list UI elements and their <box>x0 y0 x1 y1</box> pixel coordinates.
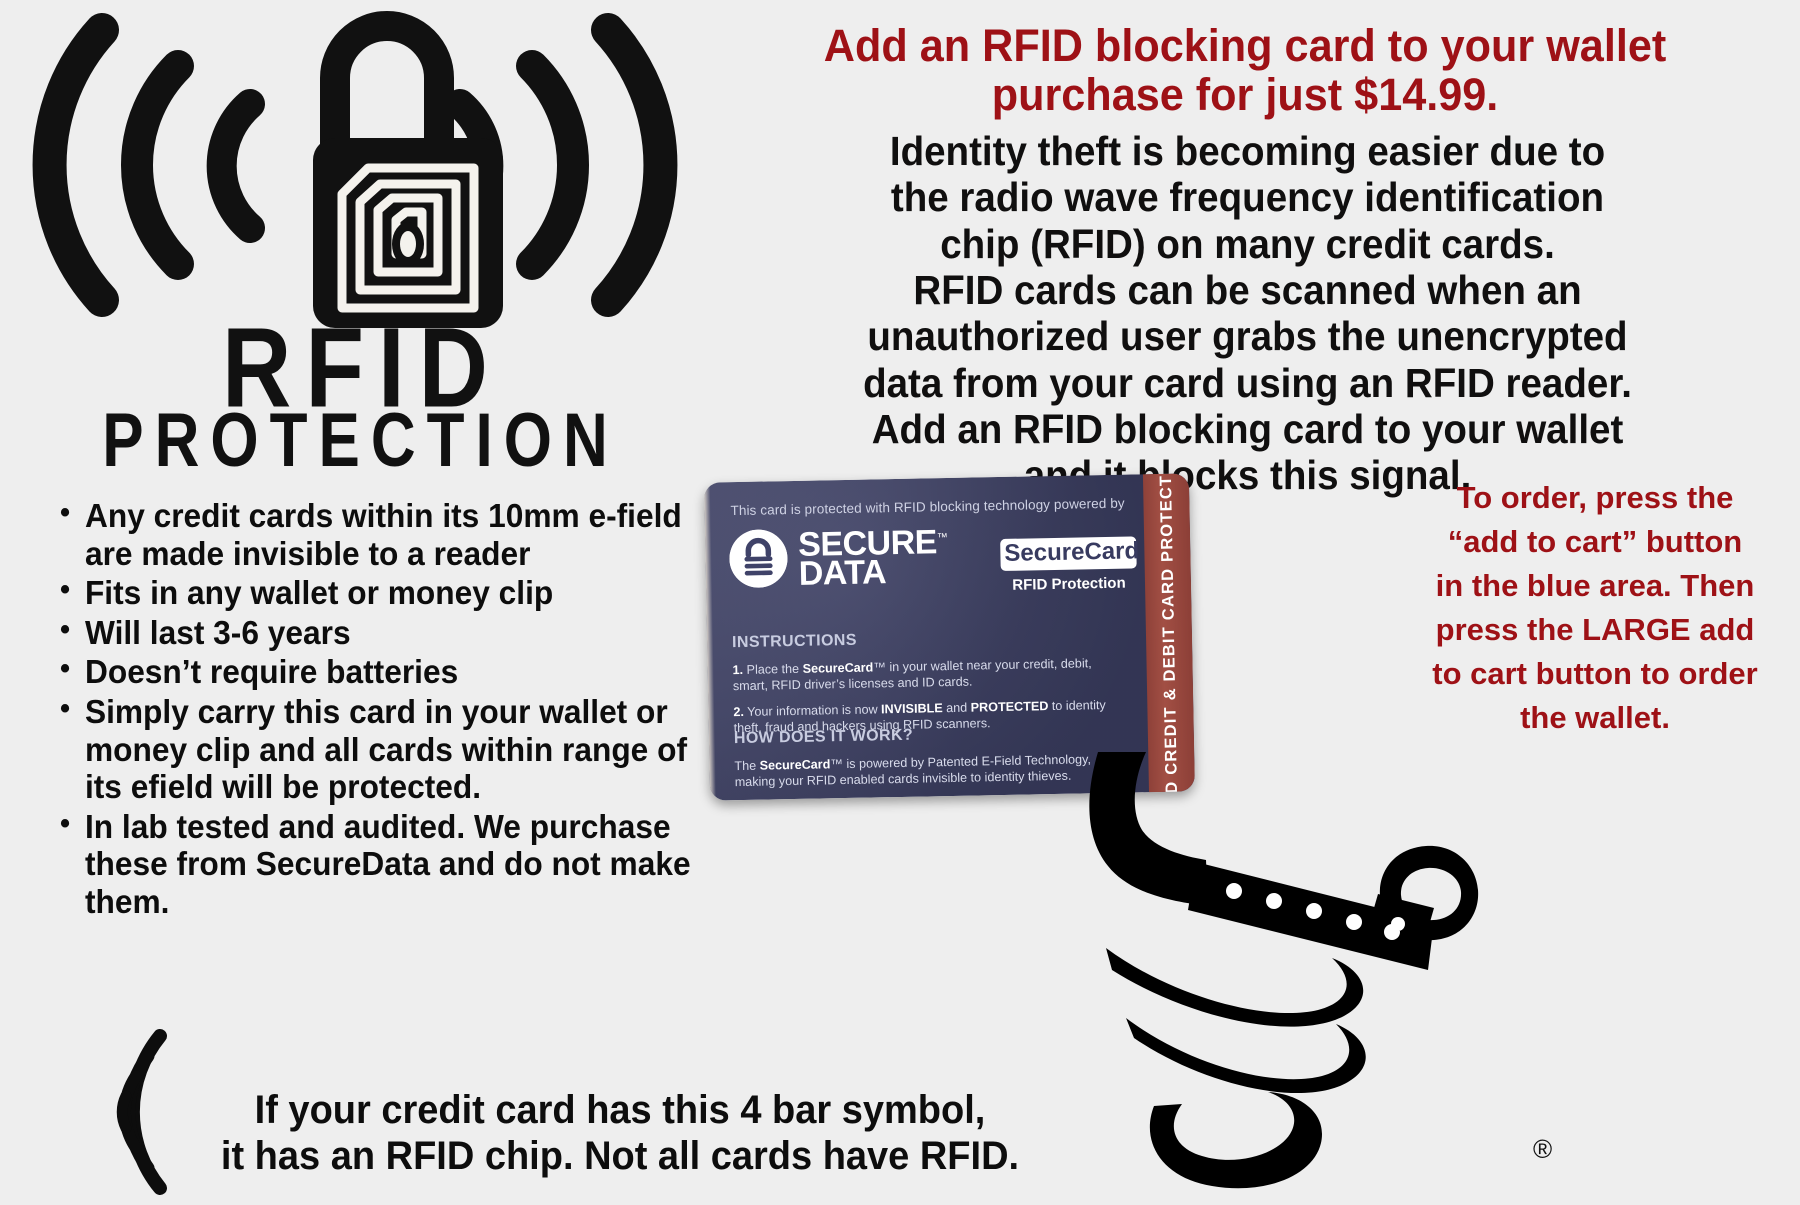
badge-subtitle: RFID Protection <box>1001 574 1137 594</box>
card-how-it-works-heading: HOW DOES IT WORK? <box>734 727 914 748</box>
step-number: 2. <box>733 705 744 719</box>
registered-trademark-icon: ® <box>1533 1136 1552 1162</box>
rfid-logo-wordmark-line2: PROTECTION <box>10 404 700 480</box>
step-text: Your information is now <box>744 702 881 719</box>
securedata-word-data: DATA <box>798 553 886 593</box>
order-note-line: to cart button to order <box>1395 652 1795 696</box>
step-brand: SecureCard <box>802 660 873 675</box>
securedata-wordmark: SECURE™ DATA <box>798 528 948 589</box>
bottom-caption-line: it has an RFID chip. Not all cards have … <box>164 1134 1076 1180</box>
intro-line: the radio wave frequency identification <box>733 174 1762 220</box>
promo-headline: Add an RFID blocking card to your wallet… <box>722 22 1768 119</box>
step-number: 1. <box>732 663 743 677</box>
securedata-logo: SECURE™ DATA <box>729 526 948 589</box>
list-item: Will last 3-6 years <box>60 614 722 652</box>
intro-line: RFID cards can be scanned when an <box>733 267 1762 313</box>
intro-line: Identity theft is becoming easier due to <box>733 128 1762 174</box>
card-instruction-step-1: 1. Place the SecureCard™ in your wallet … <box>732 655 1107 694</box>
intro-line: Add an RFID blocking card to your wallet <box>733 406 1762 452</box>
bottom-caption-line: If your credit card has this 4 bar symbo… <box>164 1088 1076 1134</box>
intro-line: data from your card using an RFID reader… <box>733 360 1762 406</box>
securecard-badge: SecureCard RFID Protection <box>1000 536 1137 594</box>
order-note-line: press the LARGE add <box>1395 608 1795 652</box>
order-note-line: “add to cart” button <box>1395 520 1795 564</box>
order-instructions-note: To order, press the “add to cart” button… <box>1395 476 1795 740</box>
securedata-lock-icon <box>729 529 788 588</box>
step-emphasis-invisible: INVISIBLE <box>881 701 943 716</box>
card-how-it-works-text: The SecureCard™ is powered by Patented E… <box>734 751 1109 790</box>
list-item: Doesn’t require batteries <box>60 653 722 691</box>
how-text-pre: The <box>734 759 759 773</box>
intro-paragraph: Identity theft is becoming easier due to… <box>733 128 1762 499</box>
order-note-line: in the blue area. Then <box>1395 564 1795 608</box>
card-instructions-heading: INSTRUCTIONS <box>732 632 857 652</box>
coiled-belt-logo-icon <box>1078 726 1558 1205</box>
trademark-symbol: ™ <box>937 532 948 544</box>
list-item: Any credit cards within its 10mm e-field… <box>60 497 722 572</box>
infographic-canvas: RFID PROTECTION Add an RFID blocking car… <box>0 0 1800 1205</box>
card-tagline: This card is protected with RFID blockin… <box>730 495 1169 518</box>
bottom-caption: If your credit card has this 4 bar symbo… <box>164 1088 1076 1179</box>
list-item: Fits in any wallet or money clip <box>60 574 722 612</box>
intro-line: unauthorized user grabs the unencrypted <box>733 313 1762 359</box>
order-note-line: To order, press the <box>1395 476 1795 520</box>
how-brand: SecureCard <box>760 757 831 772</box>
feature-list: Any credit cards within its 10mm e-field… <box>30 497 750 923</box>
step-text: Place the <box>743 662 803 677</box>
list-item: In lab tested and audited. We purchase t… <box>60 808 722 921</box>
step-text-mid: and <box>943 701 971 716</box>
intro-line: chip (RFID) on many credit cards. <box>733 221 1762 267</box>
trademark-symbol: ™ <box>830 757 843 771</box>
list-item: Simply carry this card in your wallet or… <box>60 693 722 806</box>
badge-title: SecureCard <box>1000 536 1137 571</box>
step-emphasis-protected: PROTECTED <box>971 699 1049 714</box>
rfid-contactless-wave-icon <box>20 1022 180 1202</box>
trademark-symbol: ™ <box>873 660 886 674</box>
